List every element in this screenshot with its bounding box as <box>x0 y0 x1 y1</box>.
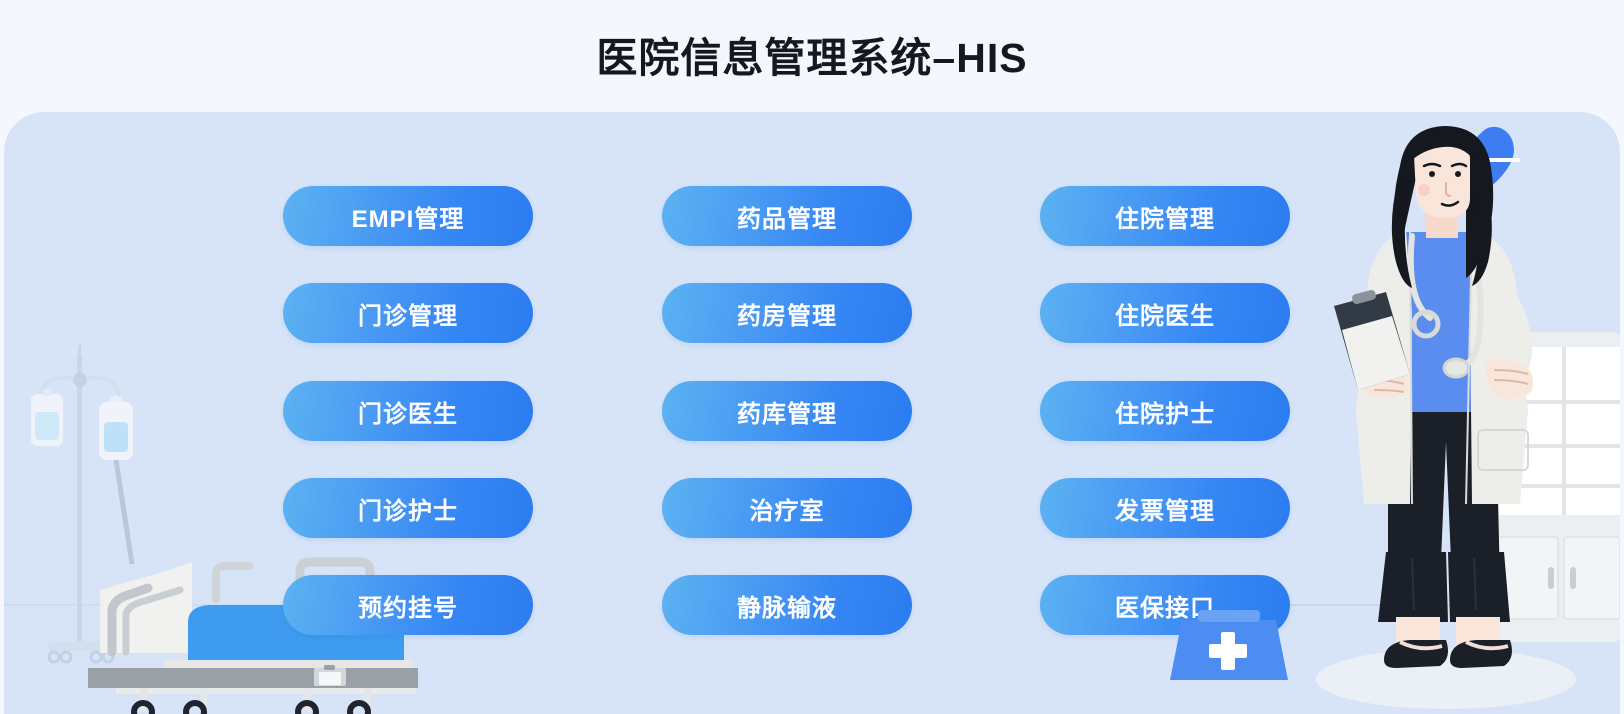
module-button-drug-management[interactable]: 药品管理 <box>662 186 912 246</box>
module-button-outpatient-management[interactable]: 门诊管理 <box>283 283 533 343</box>
module-button-drug-warehouse-management[interactable]: 药库管理 <box>662 381 912 441</box>
module-grid: EMPI管理 门诊管理 门诊医生 门诊护士 预约挂号 药品管理 药房管理 药库管… <box>4 112 1620 714</box>
module-button-empi-management[interactable]: EMPI管理 <box>283 186 533 246</box>
his-dashboard: 医院信息管理系统–HIS <box>0 0 1624 714</box>
module-button-outpatient-doctor[interactable]: 门诊医生 <box>283 381 533 441</box>
module-button-appointment-registration[interactable]: 预约挂号 <box>283 575 533 635</box>
module-button-pharmacy-management[interactable]: 药房管理 <box>662 283 912 343</box>
page-title: 医院信息管理系统–HIS <box>0 34 1624 82</box>
first-aid-kit-illustration <box>1154 112 1354 714</box>
module-column-outpatient: EMPI管理 门诊管理 门诊医生 门诊护士 预约挂号 <box>283 112 533 714</box>
module-column-pharmacy: 药品管理 药房管理 药库管理 治疗室 静脉输液 <box>662 112 912 714</box>
module-button-outpatient-nurse[interactable]: 门诊护士 <box>283 478 533 538</box>
module-button-intravenous-infusion[interactable]: 静脉输液 <box>662 575 912 635</box>
modules-card: EMPI管理 门诊管理 门诊医生 门诊护士 预约挂号 药品管理 药房管理 药库管… <box>4 112 1620 714</box>
first-aid-kit-icon <box>1170 610 1288 680</box>
module-button-treatment-room[interactable]: 治疗室 <box>662 478 912 538</box>
